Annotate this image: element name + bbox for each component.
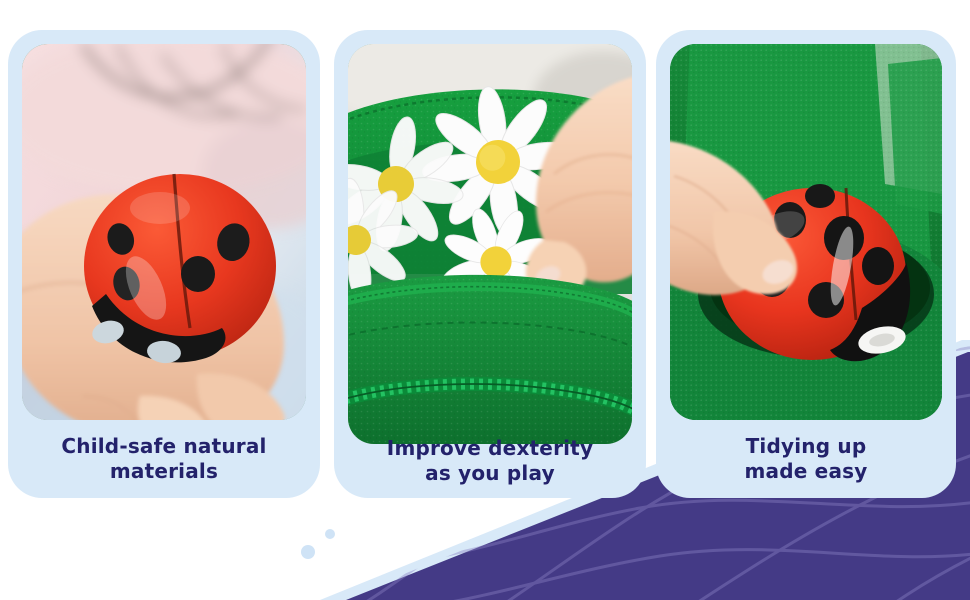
caption-line-1: Improve dexterity — [387, 436, 593, 460]
caption-line-2: as you play — [425, 461, 555, 485]
feature-card-improve-dexterity: Improve dexterity as you play — [334, 30, 646, 498]
caption-line-1: Tidying up — [746, 434, 867, 458]
photo-hand-putting-ladybug-in-pocket — [670, 44, 942, 420]
photo-hand-placing-daisy — [348, 44, 632, 444]
feature-card-tidying-up: Tidying up made easy — [656, 30, 956, 498]
caption-line-2: materials — [110, 459, 218, 483]
caption-line-1: Child-safe natural — [61, 434, 266, 458]
card-caption: Child-safe natural materials — [8, 420, 320, 498]
caption-line-2: made easy — [745, 459, 868, 483]
decorative-dot — [301, 545, 315, 559]
card-caption: Improve dexterity as you play — [334, 434, 646, 488]
feature-card-child-safe: Child-safe natural materials — [8, 30, 320, 498]
promo-banner: Child-safe natural materials — [0, 0, 970, 600]
photo-child-holding-ladybug — [22, 44, 306, 420]
card-caption: Tidying up made easy — [656, 420, 956, 498]
decorative-dot — [325, 529, 335, 539]
